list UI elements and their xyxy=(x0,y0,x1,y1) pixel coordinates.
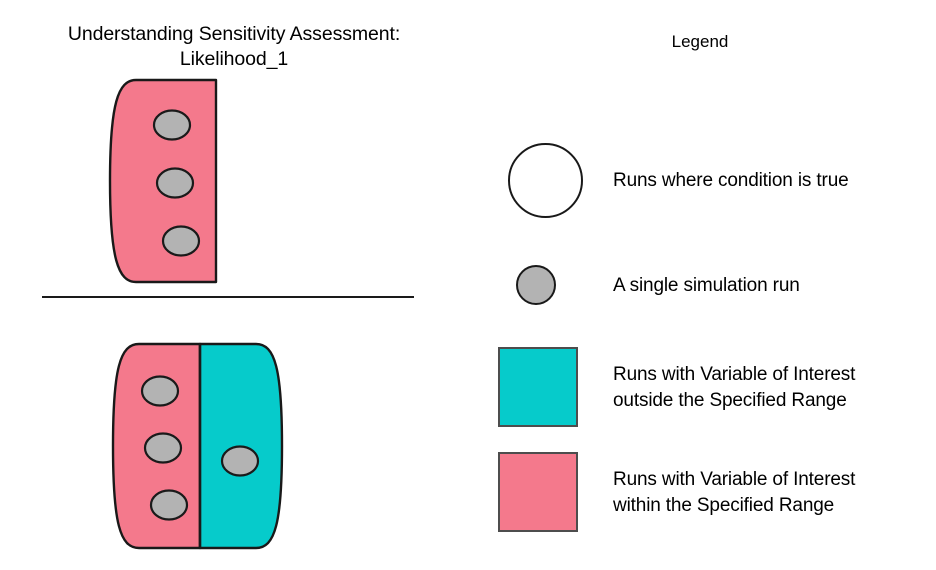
legend-label-simulation-run: A single simulation run xyxy=(613,273,800,299)
legend-title: Legend xyxy=(600,31,800,53)
legend-swatch-condition-true-circle-icon xyxy=(508,143,583,218)
legend-swatch-simulation-run-circle-icon xyxy=(516,265,556,305)
simulation-run-dot xyxy=(163,227,199,256)
legend-swatch-within-range-square-icon xyxy=(498,452,578,532)
sensitivity-shapes xyxy=(0,0,468,570)
legend-label-outside-range: Runs with Variable of Interest outside t… xyxy=(613,362,855,413)
legend-label-condition-true: Runs where condition is true xyxy=(613,168,849,194)
simulation-run-dot xyxy=(157,169,193,198)
simulation-run-dot xyxy=(222,447,258,476)
diagram-canvas: Understanding Sensitivity Assessment: Li… xyxy=(0,0,936,570)
simulation-run-dot xyxy=(142,377,178,406)
legend-label-within-range: Runs with Variable of Interest within th… xyxy=(613,467,855,518)
simulation-run-dot xyxy=(154,111,190,140)
top-group xyxy=(110,80,216,282)
horizontal-separator xyxy=(42,296,414,298)
legend-swatch-outside-range-square-icon xyxy=(498,347,578,427)
bottom-group xyxy=(113,344,282,548)
simulation-run-dot xyxy=(145,434,181,463)
simulation-run-dot xyxy=(151,491,187,520)
